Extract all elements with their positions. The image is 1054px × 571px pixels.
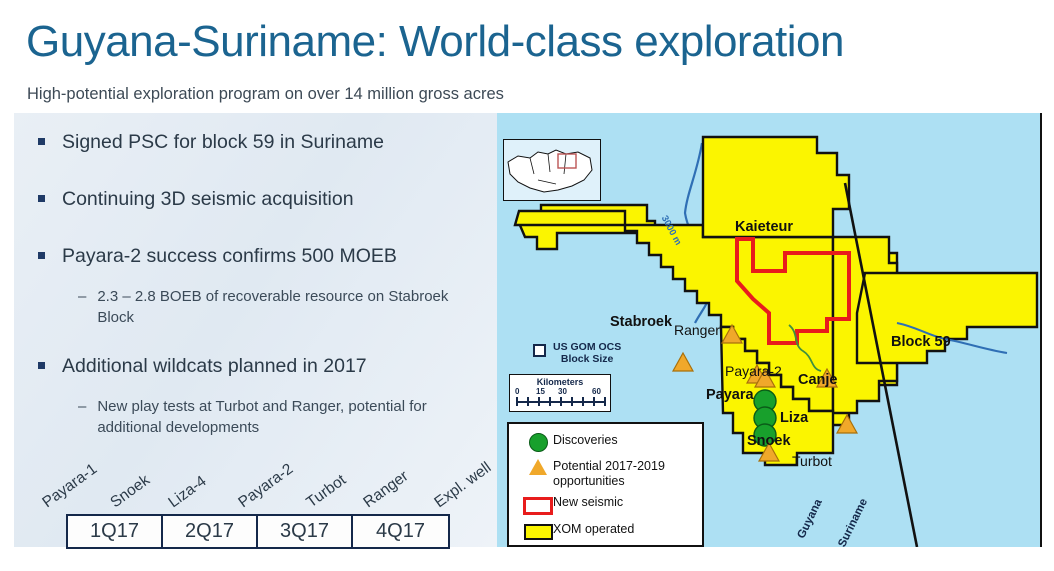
timeline-well-label: Payara-2: [235, 460, 296, 512]
legend-label: XOM operated: [553, 522, 634, 537]
scale-tick-label: 15: [536, 387, 545, 396]
bullet-item: Continuing 3D seismic acquisition: [38, 186, 354, 212]
timeline-quarter-cell: 2Q17: [163, 516, 258, 547]
dash-icon: –: [78, 396, 86, 418]
page-title: Guyana-Suriname: World-class exploration: [26, 16, 844, 68]
gom-reference-text: US GOM OCS Block Size: [553, 341, 621, 365]
yellow-fill-icon: [523, 522, 553, 540]
sub-bullet-text: New play tests at Turbot and Ranger, pot…: [97, 396, 457, 438]
bullet-text: Payara-2 success confirms 500 MOEB: [62, 243, 397, 269]
timeline-quarter-row: 1Q17 2Q17 3Q17 4Q17: [66, 514, 450, 549]
green-circle-icon: [523, 433, 553, 452]
timeline-well-label: Turbot: [303, 471, 349, 512]
scale-tick: [527, 397, 529, 406]
legend-item: Potential 2017-2019 opportunities: [523, 459, 702, 488]
scale-title: Kilometers: [510, 377, 610, 387]
bullet-item: Additional wildcats planned in 2017: [38, 353, 367, 379]
bullet-item: Signed PSC for block 59 in Suriname: [38, 129, 384, 155]
gom-reference-line2: Block Size: [553, 353, 621, 365]
gom-block-size-reference: US GOM OCS Block Size: [533, 341, 621, 365]
timeline-quarter-cell: 1Q17: [68, 516, 163, 547]
scale-tick: [516, 397, 518, 406]
scale-tick: [560, 397, 562, 406]
legend-label: Potential 2017-2019 opportunities: [553, 459, 702, 488]
scale-tick: [571, 397, 573, 406]
timeline-well-label: Ranger: [360, 468, 412, 512]
exploration-map: Stabroek Kaieteur Canje Block 59 Payara …: [497, 113, 1042, 547]
bullet-list: Signed PSC for block 59 in Suriname Cont…: [14, 113, 498, 453]
scale-tick: [604, 397, 606, 406]
red-outline-icon: [523, 495, 553, 515]
sub-bullet-item: – 2.3 – 2.8 BOEB of recoverable resource…: [78, 286, 457, 328]
bullet-square-icon: [38, 362, 45, 369]
locator-inset-map: [503, 139, 601, 201]
legend-item: XOM operated: [523, 522, 702, 540]
scale-tick-label: 60: [592, 387, 601, 396]
legend-label: Discoveries: [553, 433, 618, 448]
scale-tick: [593, 397, 595, 406]
sub-bullet-text: 2.3 – 2.8 BOEB of recoverable resource o…: [97, 286, 457, 328]
legend-label: New seismic: [553, 495, 623, 510]
timeline-well-label: Payara-1: [39, 460, 100, 512]
dash-icon: –: [78, 286, 86, 308]
legend-item: Discoveries: [523, 433, 702, 452]
scale-tick: [538, 397, 540, 406]
bullet-text: Signed PSC for block 59 in Suriname: [62, 129, 384, 155]
scale-tick: [549, 397, 551, 406]
bullet-square-icon: [38, 138, 45, 145]
sub-bullet-item: – New play tests at Turbot and Ranger, p…: [78, 396, 457, 438]
scale-tick-label: 30: [558, 387, 567, 396]
bullet-item: Payara-2 success confirms 500 MOEB: [38, 243, 397, 269]
scale-ruler: [516, 397, 604, 406]
bullet-square-icon: [38, 195, 45, 202]
bullet-square-icon: [38, 252, 45, 259]
timeline-quarter-cell: 4Q17: [353, 516, 448, 547]
orange-triangle-icon: [523, 459, 553, 475]
map-legend: Discoveries Potential 2017-2019 opportun…: [507, 422, 704, 547]
bullet-text: Continuing 3D seismic acquisition: [62, 186, 354, 212]
well-timeline: Payara-1 Snoek Liza-4 Payara-2 Turbot Ra…: [46, 452, 466, 548]
page-subtitle: High-potential exploration program on ov…: [27, 85, 504, 104]
scale-tick: [582, 397, 584, 406]
discovery-marker: [754, 424, 776, 446]
timeline-well-label: Liza-4: [165, 473, 210, 512]
timeline-well-label: Snoek: [107, 472, 153, 512]
gom-block-square-icon: [533, 344, 546, 357]
legend-item: New seismic: [523, 495, 702, 515]
timeline-quarter-cell: 3Q17: [258, 516, 353, 547]
timeline-well-labels: Payara-1 Snoek Liza-4 Payara-2 Turbot Ra…: [46, 452, 466, 512]
bullet-text: Additional wildcats planned in 2017: [62, 353, 367, 379]
kaieteur-block: [703, 137, 849, 237]
scale-tick-labels: 0 15 30 60: [510, 387, 610, 397]
gom-reference-line1: US GOM OCS: [553, 341, 621, 353]
map-scale-bar: Kilometers 0 15 30 60: [509, 374, 611, 412]
slide: Guyana-Suriname: World-class exploration…: [0, 0, 1054, 571]
scale-tick-label: 0: [515, 387, 519, 396]
